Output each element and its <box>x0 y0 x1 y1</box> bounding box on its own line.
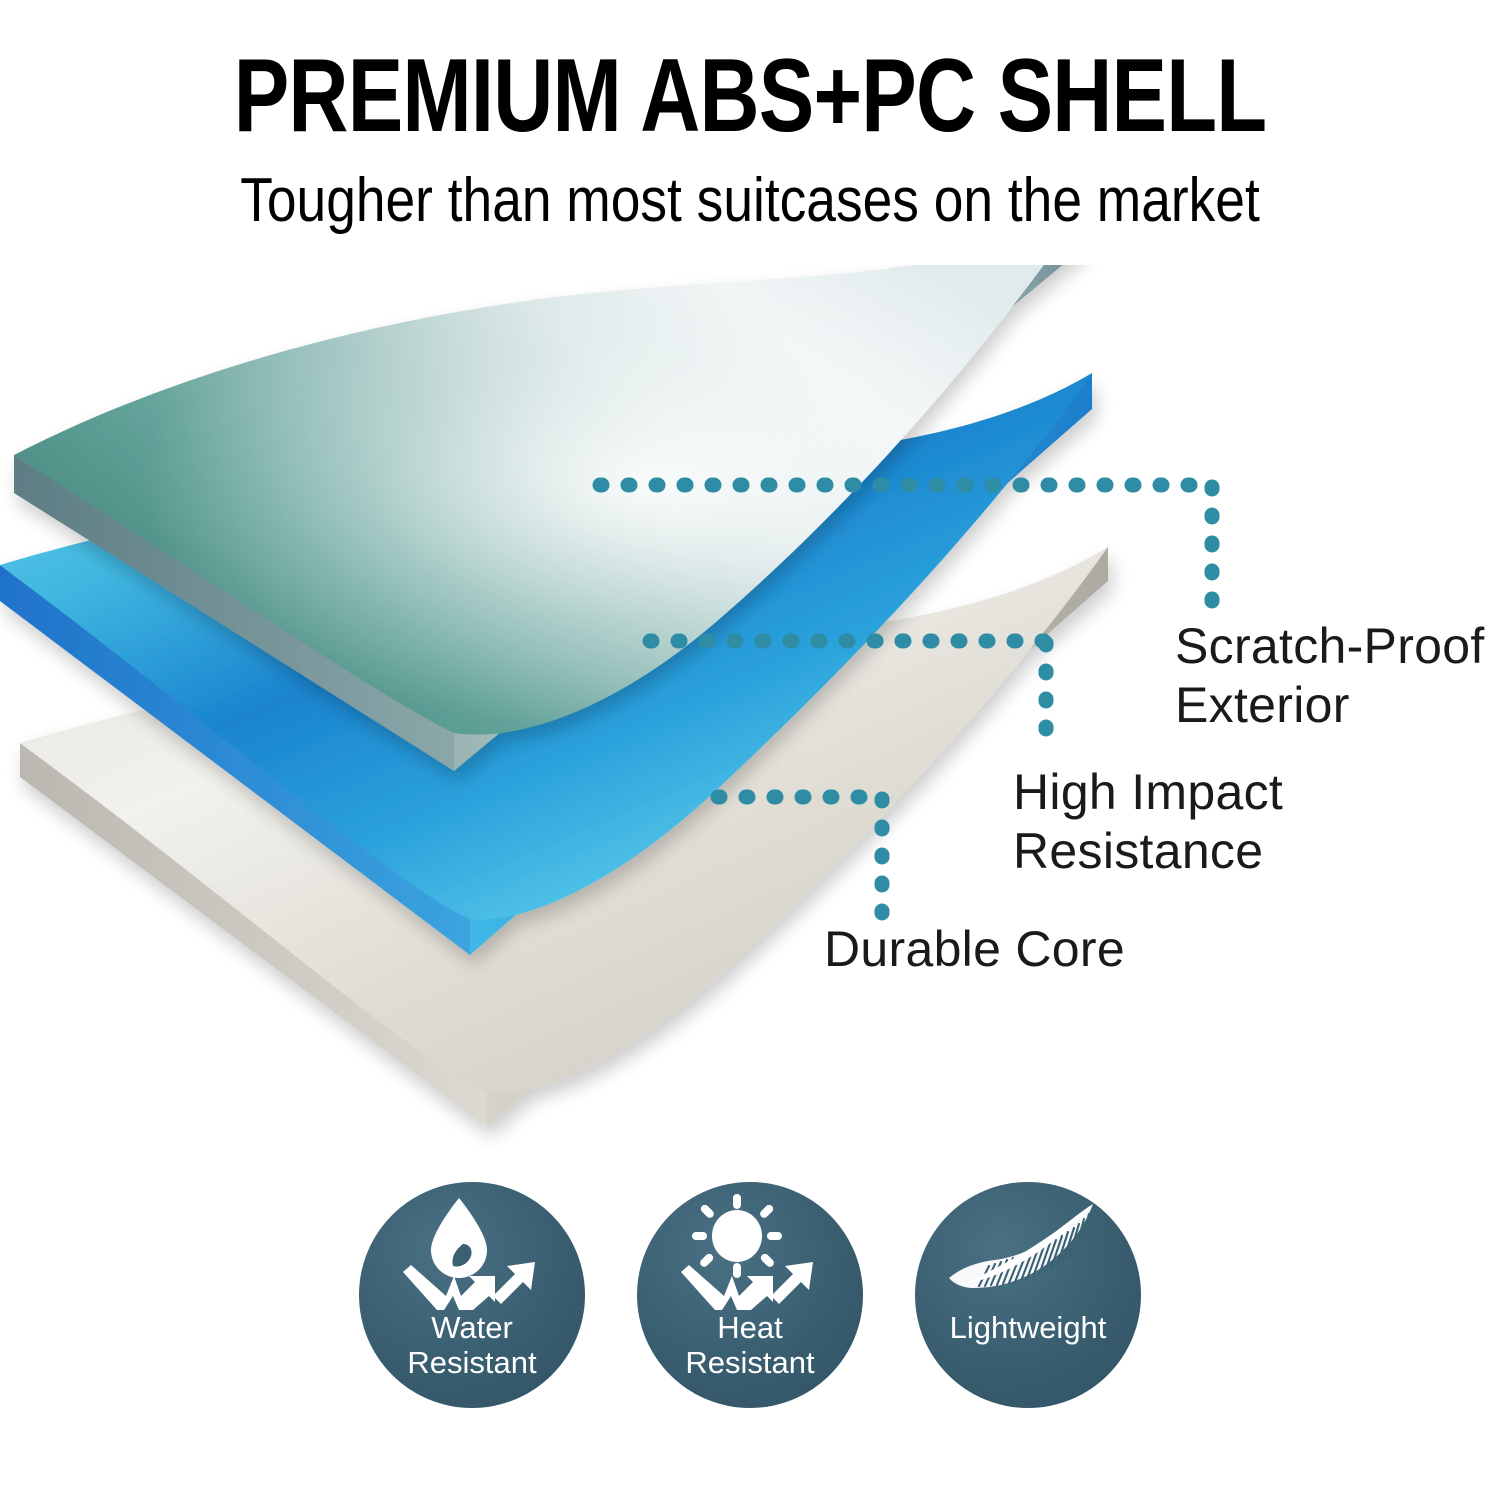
callout-high-impact-resistance: High Impact Resistance <box>1013 763 1283 881</box>
callout-durable-core: Durable Core <box>824 920 1125 979</box>
header: PREMIUM ABS+PC SHELL Tougher than most s… <box>0 0 1500 232</box>
page-title: PREMIUM ABS+PC SHELL <box>150 44 1350 148</box>
sun-repel-icon <box>637 1192 863 1312</box>
badge-caption: Heat Resistant <box>637 1310 863 1380</box>
callout-scratch-proof-exterior: Scratch-Proof Exterior <box>1175 617 1485 735</box>
infographic-canvas: PREMIUM ABS+PC SHELL Tougher than most s… <box>0 0 1500 1500</box>
water-drop-repel-icon <box>359 1192 585 1312</box>
feature-badges: Water Resistant <box>0 1182 1500 1422</box>
feather-icon <box>915 1192 1141 1312</box>
badge-caption: Water Resistant <box>359 1310 585 1380</box>
badge-heat-resistant: Heat Resistant <box>637 1182 863 1408</box>
page-subtitle: Tougher than most suitcases on the marke… <box>105 170 1395 232</box>
badge-lightweight: Lightweight <box>915 1182 1141 1408</box>
badge-caption: Lightweight <box>915 1310 1141 1345</box>
badge-water-resistant: Water Resistant <box>359 1182 585 1408</box>
